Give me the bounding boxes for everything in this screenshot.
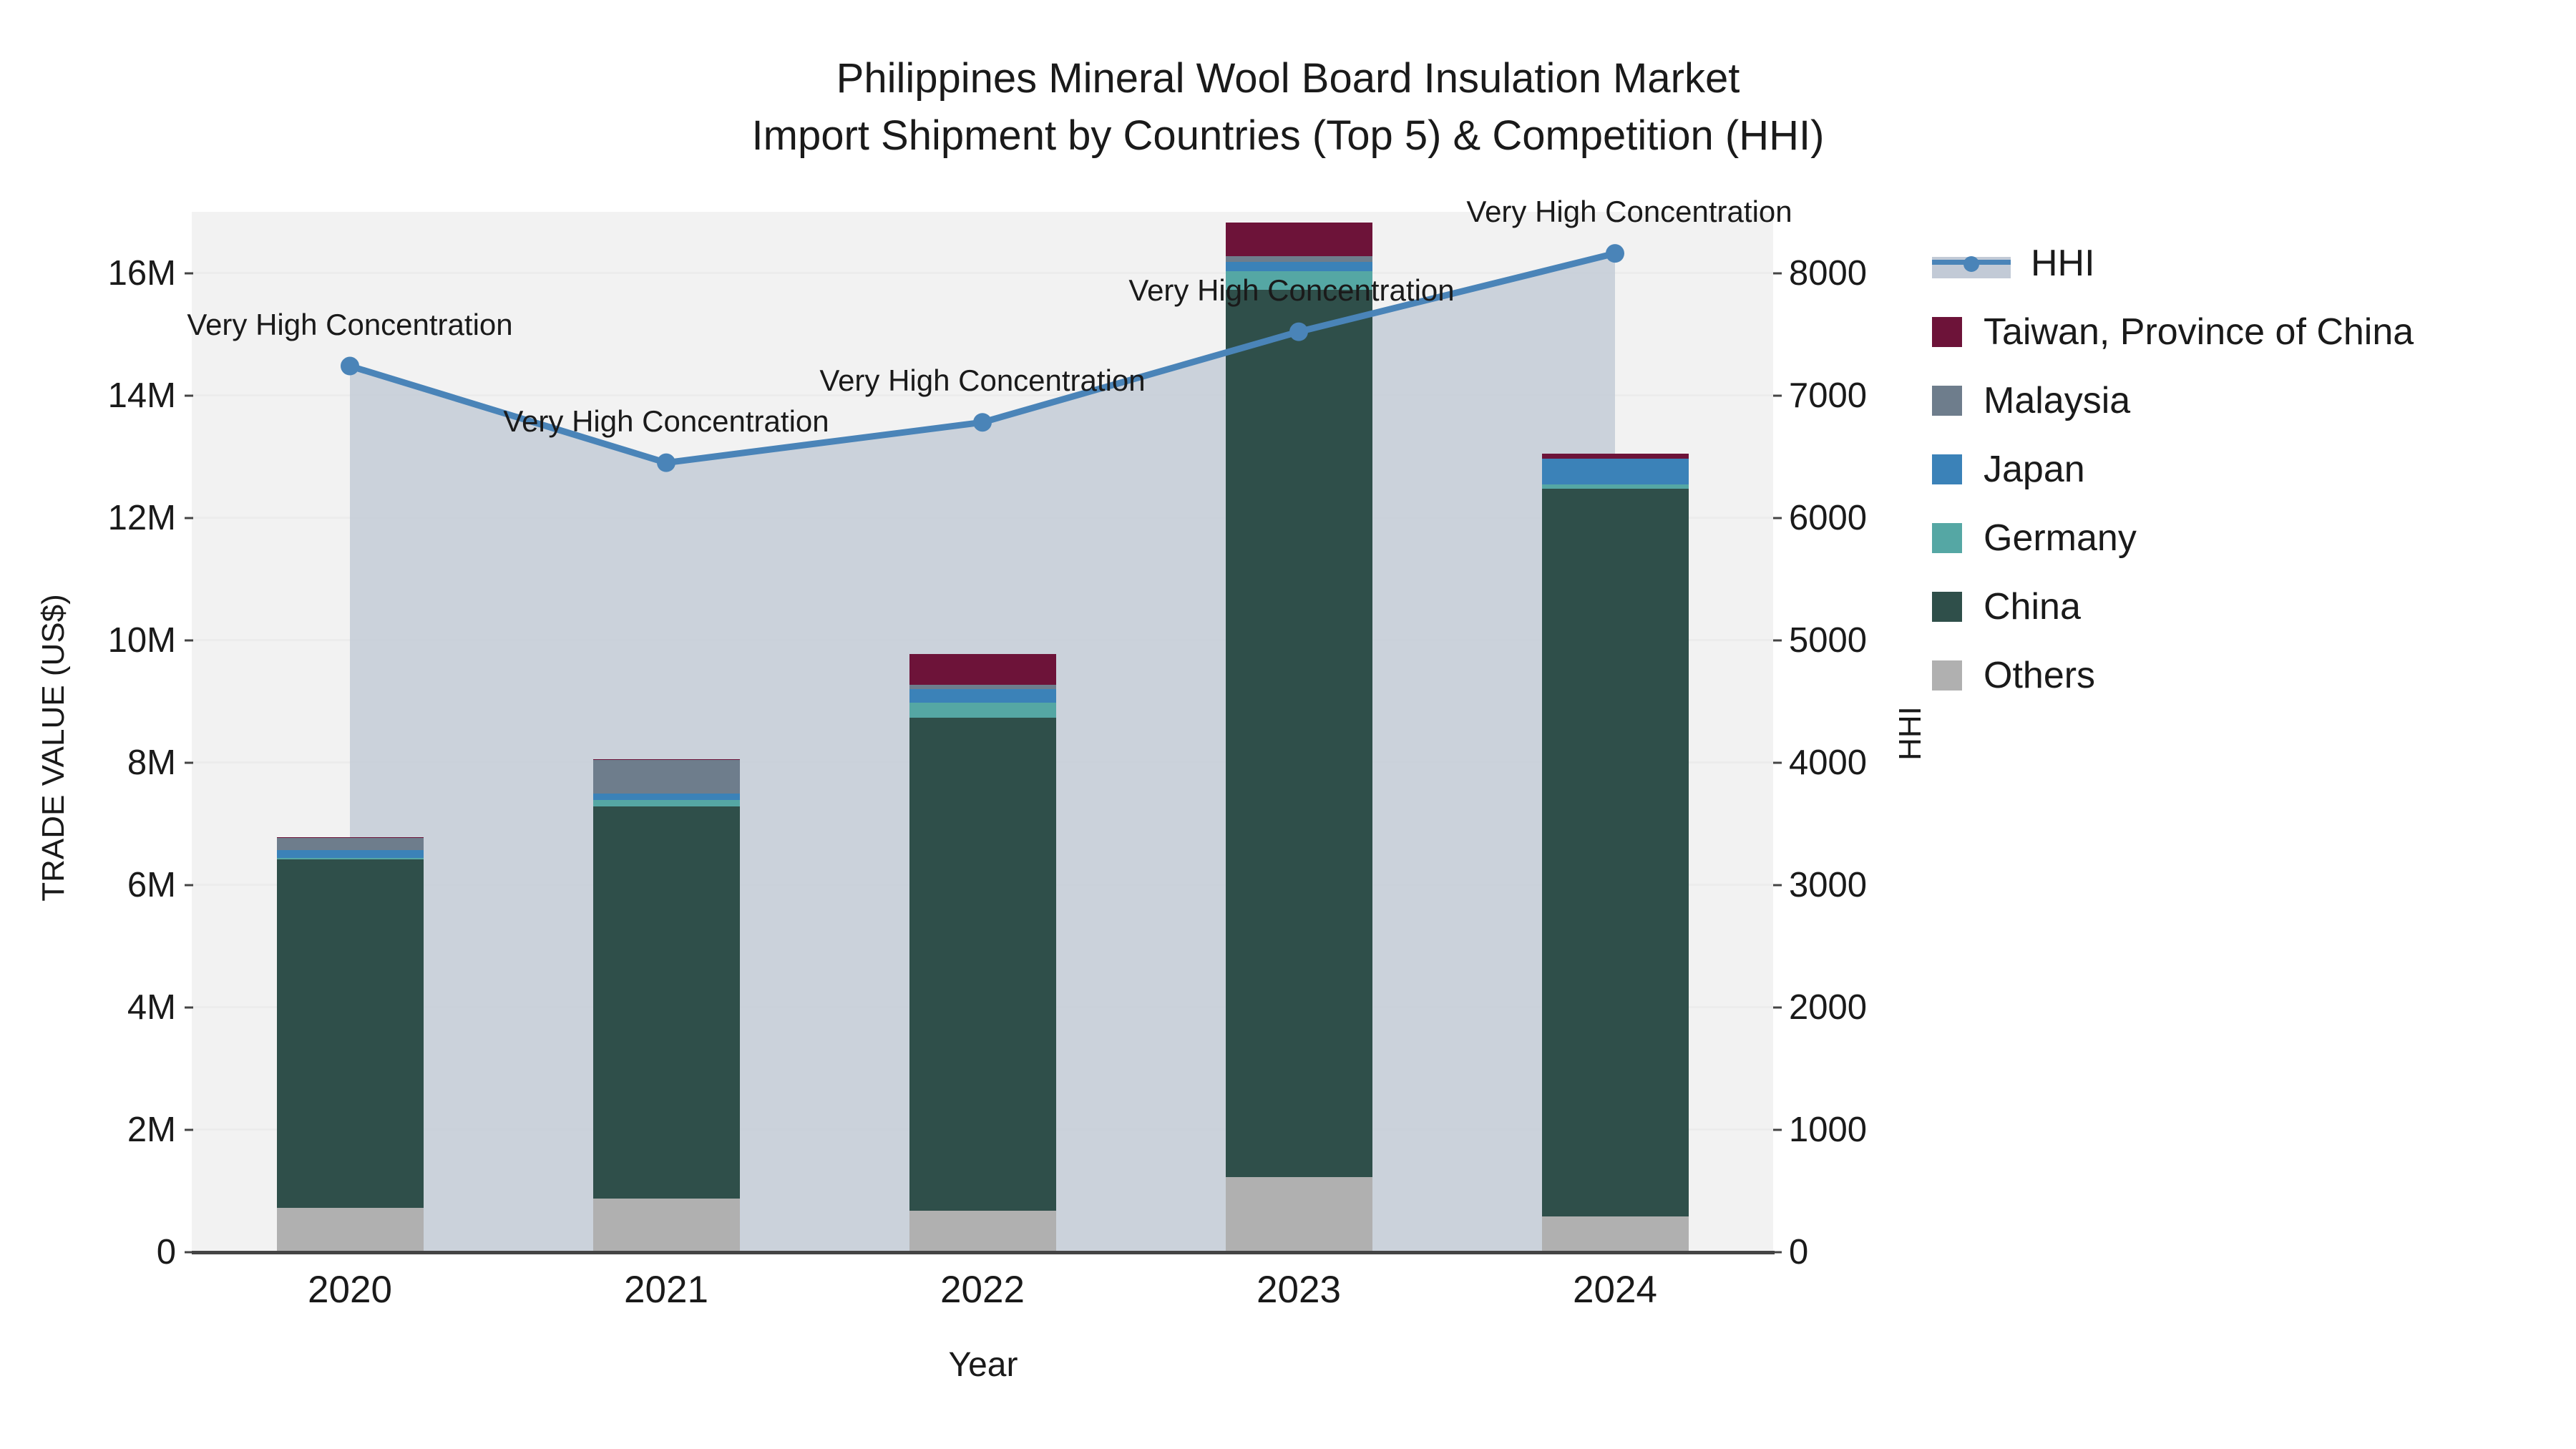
y-axis-right-tick-label: 1000 (1789, 1110, 1968, 1150)
x-axis-tick-label: 2023 (1257, 1268, 1341, 1312)
y-axis-left-tick-mark (185, 272, 193, 274)
x-axis-tick-label: 2022 (940, 1268, 1025, 1312)
legend-item-malaysia[interactable]: Malaysia (1932, 366, 2414, 435)
legend-color-swatch (1932, 660, 1962, 691)
y-axis-left-tick-mark (185, 517, 193, 519)
legend-item-label: Germany (1984, 517, 2137, 560)
legend-item-label: Japan (1984, 448, 2085, 491)
y-axis-right-tick-mark (1773, 1006, 1782, 1008)
hhi-annotation: Very High Concentration (819, 364, 1145, 398)
legend-item-label: Taiwan, Province of China (1984, 311, 2414, 353)
chart-title-line1: Philippines Mineral Wool Board Insulatio… (836, 55, 1740, 102)
hhi-annotation: Very High Concentration (187, 308, 512, 342)
y-axis-left-tick-label: 12M (7, 498, 176, 538)
legend-item-label: HHI (2031, 242, 2095, 285)
y-axis-left-tick-label: 0 (7, 1232, 176, 1272)
y-axis-left-tick-label: 14M (7, 376, 176, 416)
y-axis-right-tick-mark (1773, 272, 1782, 274)
legend-item-others[interactable]: Others (1932, 641, 2414, 710)
y-axis-left-label: TRADE VALUE (US$) (36, 390, 72, 1106)
y-axis-right-tick-label: 2000 (1789, 987, 1968, 1028)
y-axis-right-tick-mark (1773, 517, 1782, 519)
hhi-data-point[interactable] (341, 357, 359, 376)
y-axis-right-label: HHI (1893, 376, 1928, 1091)
chart-title: Philippines Mineral Wool Board Insulatio… (0, 50, 2576, 165)
y-axis-left-tick-label: 10M (7, 620, 176, 660)
hhi-annotation: Very High Concentration (1466, 195, 1792, 229)
hhi-annotation: Very High Concentration (503, 404, 829, 439)
y-axis-right-tick-mark (1773, 639, 1782, 641)
y-axis-left-tick-mark (185, 1252, 193, 1254)
y-axis-left-tick-mark (185, 1006, 193, 1008)
legend-color-swatch (1932, 592, 1962, 622)
y-axis-left-tick-label: 6M (7, 865, 176, 905)
y-axis-right-tick-label: 0 (1789, 1232, 1968, 1272)
chart-title-line2: Import Shipment by Countries (Top 5) & C… (0, 107, 2576, 165)
chart-legend: HHITaiwan, Province of ChinaMalaysiaJapa… (1932, 229, 2414, 710)
hhi-data-point[interactable] (1289, 323, 1308, 341)
hhi-data-point[interactable] (657, 454, 675, 472)
y-axis-right-tick-label: 3000 (1789, 865, 1968, 905)
hhi-data-point[interactable] (1606, 244, 1624, 263)
legend-line-swatch (1932, 248, 2011, 278)
legend-item-taiwan-province-of-china[interactable]: Taiwan, Province of China (1932, 298, 2414, 366)
hhi-data-point[interactable] (973, 413, 992, 431)
y-axis-left-tick-mark (185, 1128, 193, 1131)
y-axis-left-tick-mark (185, 761, 193, 763)
legend-item-germany[interactable]: Germany (1932, 504, 2414, 572)
x-axis-line (192, 1251, 1775, 1254)
x-axis-tick-label: 2020 (308, 1268, 392, 1312)
y-axis-right-label-host: HHI (1889, 716, 1932, 758)
y-axis-right-tick-label: 4000 (1789, 743, 1968, 783)
y-axis-left-label-host: TRADE VALUE (US$) (21, 730, 64, 773)
legend-item-label: Others (1984, 654, 2095, 697)
y-axis-left-tick-label: 2M (7, 1110, 176, 1150)
hhi-annotation: Very High Concentration (1128, 273, 1454, 308)
y-axis-left-tick-mark (185, 884, 193, 886)
y-axis-left-tick-mark (185, 639, 193, 641)
x-axis-tick-label: 2021 (624, 1268, 708, 1312)
legend-color-swatch (1932, 317, 1962, 347)
x-axis-tick-label: 2024 (1573, 1268, 1657, 1312)
y-axis-left-tick-label: 4M (7, 987, 176, 1028)
y-axis-right-tick-mark (1773, 884, 1782, 886)
y-axis-left-tick-label: 16M (7, 253, 176, 293)
legend-item-label: Malaysia (1984, 379, 2130, 422)
legend-item-japan[interactable]: Japan (1932, 435, 2414, 504)
y-axis-right-tick-mark (1773, 1252, 1782, 1254)
y-axis-left-tick-mark (185, 394, 193, 396)
legend-item-label: China (1984, 585, 2081, 628)
legend-color-swatch (1932, 454, 1962, 484)
legend-item-hhi[interactable]: HHI (1932, 229, 2414, 298)
x-axis-label: Year (192, 1345, 1775, 1385)
chart-figure: Philippines Mineral Wool Board Insulatio… (0, 0, 2576, 1449)
legend-color-swatch (1932, 523, 1962, 553)
legend-color-swatch (1932, 386, 1962, 416)
y-axis-right-tick-mark (1773, 761, 1782, 763)
legend-item-china[interactable]: China (1932, 572, 2414, 641)
y-axis-right-tick-mark (1773, 1128, 1782, 1131)
y-axis-right-tick-mark (1773, 394, 1782, 396)
